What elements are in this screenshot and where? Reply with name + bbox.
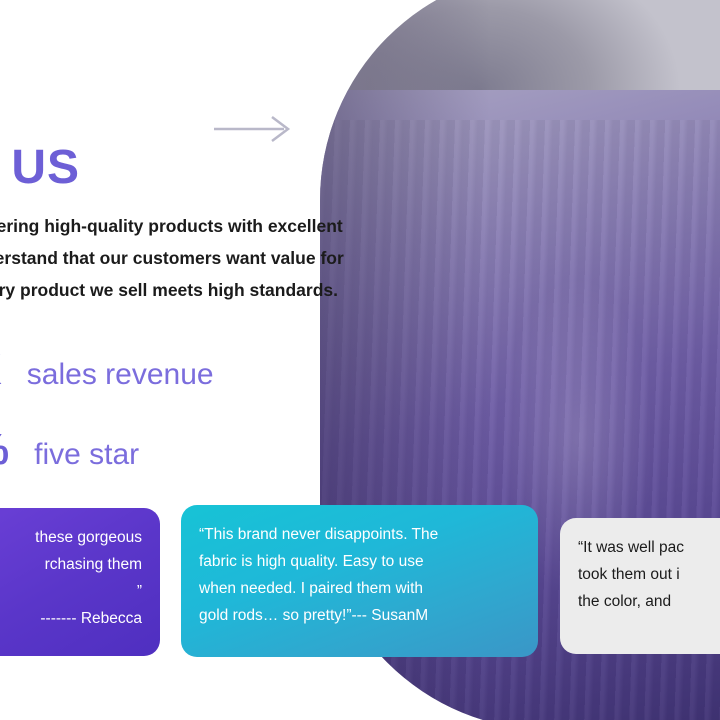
testimonial-card-third: “It was well pac took them out i the col… — [560, 518, 720, 654]
arrow-right-icon — [214, 112, 296, 146]
intro-paragraph: on offering high-quality products with e… — [0, 210, 468, 306]
stat-value: K — [0, 345, 3, 395]
testimonial-line: when needed. I paired them with — [199, 575, 520, 602]
testimonial-line: the color, and — [578, 588, 720, 615]
page-title: E US — [0, 140, 80, 195]
testimonial-card-rebecca: these gorgeous rchasing them ” ------- R… — [0, 508, 160, 656]
testimonial-line: took them out i — [578, 561, 720, 588]
testimonial-line: “This brand never disappoints. The — [199, 521, 520, 548]
testimonial-author: ------- Rebecca — [0, 605, 142, 632]
testimonial-line: ” — [0, 578, 142, 605]
stat-sales-revenue: K sales revenue — [0, 345, 214, 395]
stat-five-star: % five star — [0, 425, 139, 475]
stat-label: five star — [34, 438, 139, 472]
stat-value: % — [0, 425, 10, 475]
paragraph-line: re every product we sell meets high stan… — [0, 274, 468, 306]
paragraph-line: on offering high-quality products with e… — [0, 210, 468, 242]
testimonial-card-susanm: “This brand never disappoints. The fabri… — [181, 505, 538, 657]
testimonial-author: gold rods… so pretty!”--- SusanM — [199, 602, 520, 629]
stat-label: sales revenue — [27, 358, 214, 392]
testimonial-line: rchasing them — [0, 551, 142, 578]
slide-canvas: E US on offering high-quality products w… — [0, 0, 720, 720]
paragraph-line: e understand that our customers want val… — [0, 242, 468, 274]
testimonial-line: fabric is high quality. Easy to use — [199, 548, 520, 575]
testimonial-line: these gorgeous — [0, 524, 142, 551]
testimonial-line: “It was well pac — [578, 534, 720, 561]
